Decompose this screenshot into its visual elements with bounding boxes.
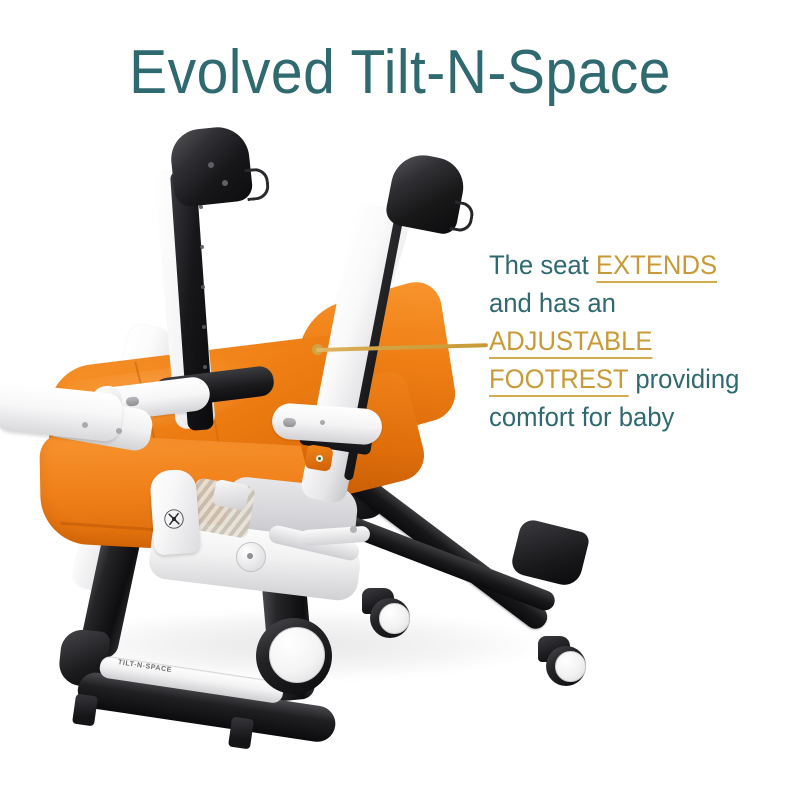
infographic-canvas: Evolved Tilt-N-Space TILT-N [0,0,800,800]
seat-hinge-link [300,526,371,547]
callout-line: The seat EXTENDS [489,246,774,284]
callout-text-run: The seat [489,250,596,280]
rail-hole [202,325,206,329]
frame-post-right-loop [449,200,475,233]
caster-wheel-middle [370,598,410,638]
backrest-cap-screw-icon [208,162,214,168]
callout-text-run: and has an [489,288,616,318]
callout-text-run: providing [628,364,739,394]
callout-text-run: comfort for baby [489,402,674,432]
caster-wheel-right [546,646,586,686]
caster-hubcap [379,603,410,634]
caster-hubcap [555,651,586,682]
callout-line: ADJUSTABLE [489,322,774,360]
rail-hole [203,365,207,369]
callout-line: comfort for baby [489,398,774,436]
armrest-screw-icon [320,420,325,425]
hinge-screw-icon [350,526,357,533]
base-foot-nub [72,694,98,727]
page-title: Evolved Tilt-N-Space [32,40,768,106]
front-wheel-hubcap [269,627,325,683]
recline-knob-dot [247,553,253,559]
brand-logo-icon [162,507,185,530]
callout-line: and has an [489,284,774,322]
rail-hole [199,205,203,209]
backrest-strap-loop [244,167,270,201]
callout-line: FOOTREST providing [489,360,774,398]
callout-keyword: ADJUSTABLE [489,326,652,359]
footrest-adjuster-screw-icon [316,455,323,462]
front-wheel [256,618,332,694]
callout-keyword: FOOTREST [489,364,628,397]
callout-keyword: EXTENDS [596,250,717,283]
armrest-slot [283,418,297,428]
rail-hole [201,285,205,289]
footrest-screw-icon [116,428,122,434]
rail-hole [200,245,204,249]
footrest-screw-icon [82,422,88,428]
rear-leg-joint [509,517,590,588]
base-foot-nub [228,717,254,750]
callout-text-block: The seat EXTENDSand has anADJUSTABLEFOOT… [489,246,774,436]
backrest-cap-screw-icon [222,180,228,186]
